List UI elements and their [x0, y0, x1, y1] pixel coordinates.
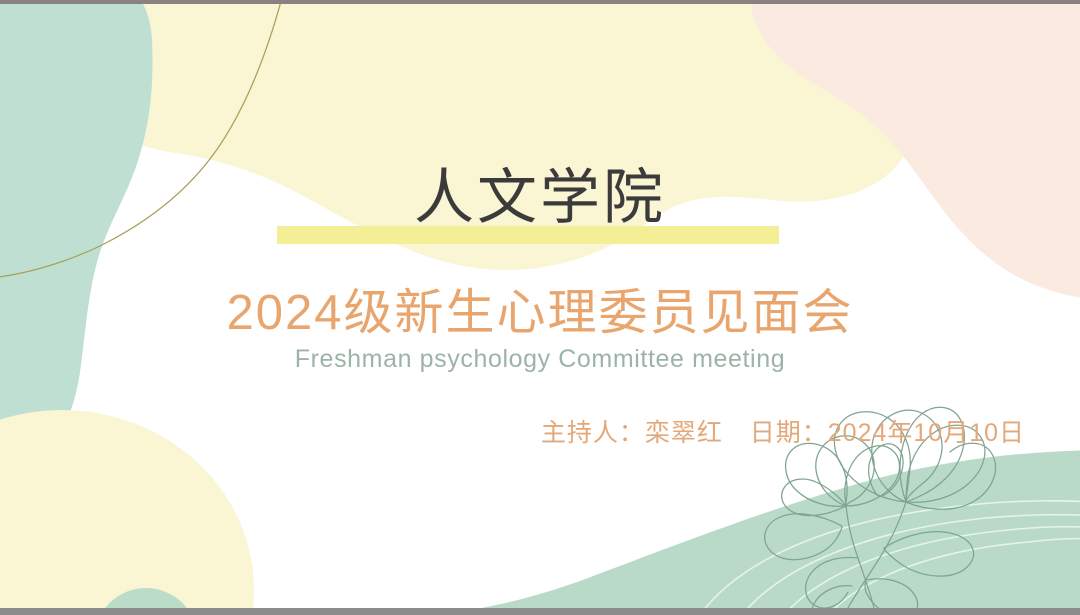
- title-block: 人文学院: [0, 168, 1080, 228]
- slide-bottom-border: [0, 608, 1080, 615]
- subtitle-block: 2024级新生心理委员见面会 Freshman psychology Commi…: [0, 286, 1080, 373]
- meta-block: 主持人：栾翠红 日期：2024年10月10日: [0, 418, 1080, 448]
- subtitle-chinese: 2024级新生心理委员见面会: [0, 286, 1080, 341]
- page-title: 人文学院: [414, 168, 666, 228]
- title-slide: 人文学院 2024级新生心理委员见面会 Freshman psychology …: [0, 0, 1080, 615]
- subtitle-english: Freshman psychology Committee meeting: [0, 346, 1080, 374]
- date-label: 日期：2024年10月10日: [750, 418, 1025, 448]
- slide-top-border: [0, 0, 1080, 4]
- host-label: 主持人：栾翠红: [541, 418, 723, 448]
